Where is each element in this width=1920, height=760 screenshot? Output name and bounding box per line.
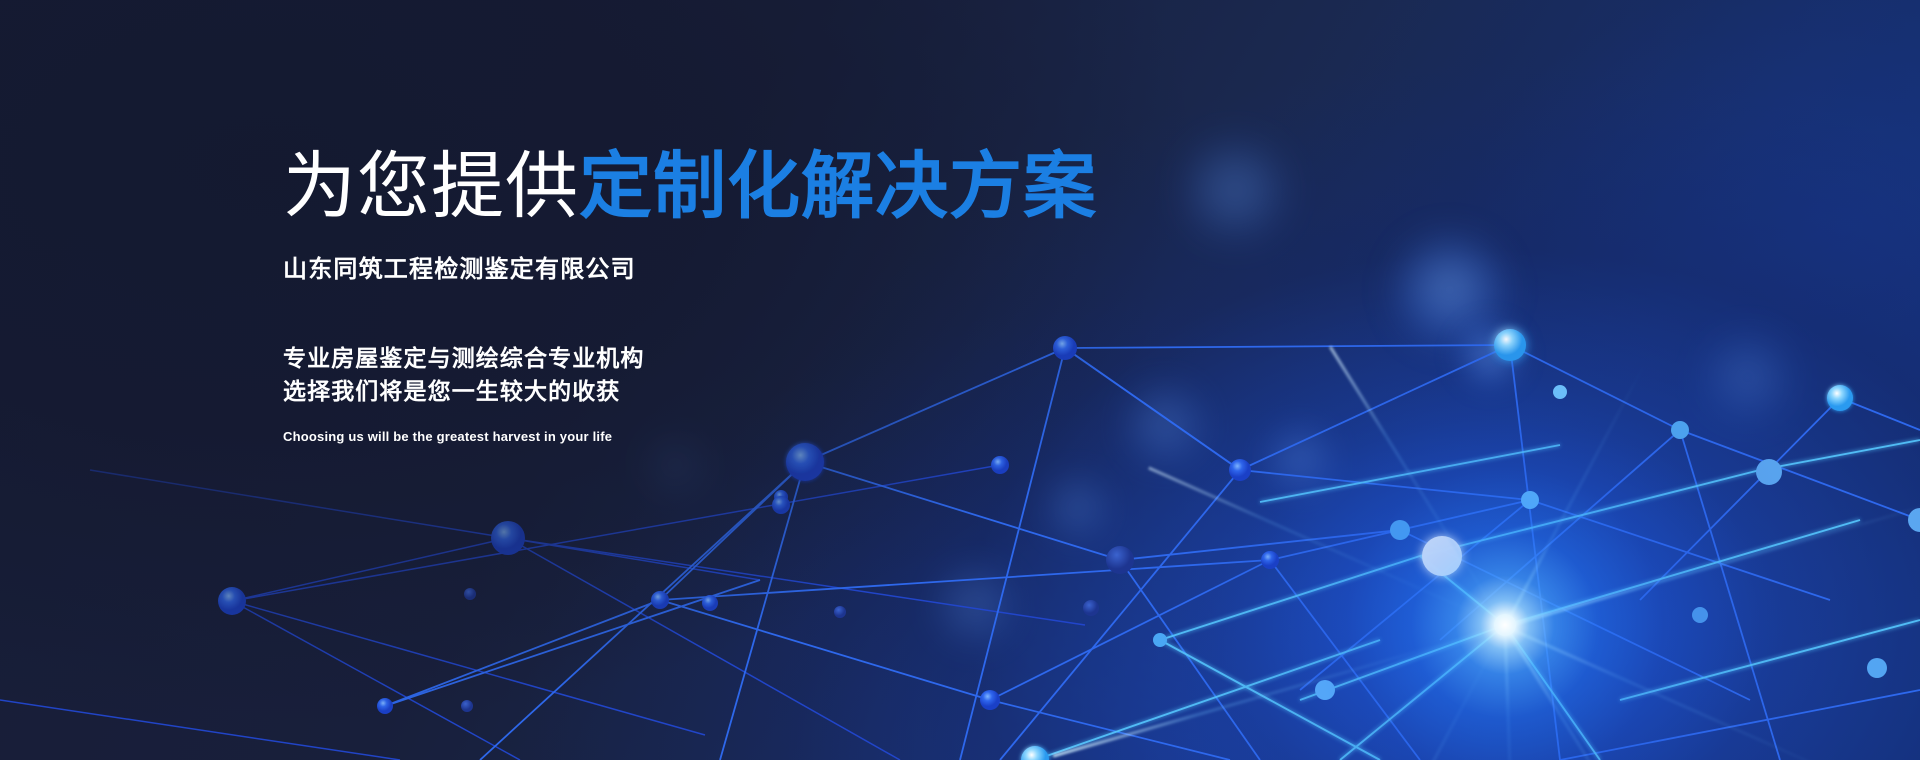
company-name: 山东同筑工程检测鉴定有限公司 bbox=[283, 249, 1097, 284]
headline-accent-text: 定制化解决方案 bbox=[579, 146, 1097, 227]
hero-banner: 为您提供定制化解决方案 山东同筑工程检测鉴定有限公司 专业房屋鉴定与测绘综合专业… bbox=[0, 0, 1920, 760]
slogan-line-2: 选择我们将是您一生较大的收获 bbox=[283, 375, 1097, 408]
slogan-block: 专业房屋鉴定与测绘综合专业机构 选择我们将是您一生较大的收获 bbox=[283, 342, 1097, 407]
headline-plain-text: 为您提供 bbox=[283, 146, 579, 227]
slogan-line-1: 专业房屋鉴定与测绘综合专业机构 bbox=[283, 342, 1097, 375]
hero-text-block: 为您提供定制化解决方案 山东同筑工程检测鉴定有限公司 专业房屋鉴定与测绘综合专业… bbox=[283, 150, 1097, 444]
tagline-english: Choosing us will be the greatest harvest… bbox=[283, 429, 1097, 444]
page-title: 为您提供定制化解决方案 bbox=[283, 150, 1097, 223]
